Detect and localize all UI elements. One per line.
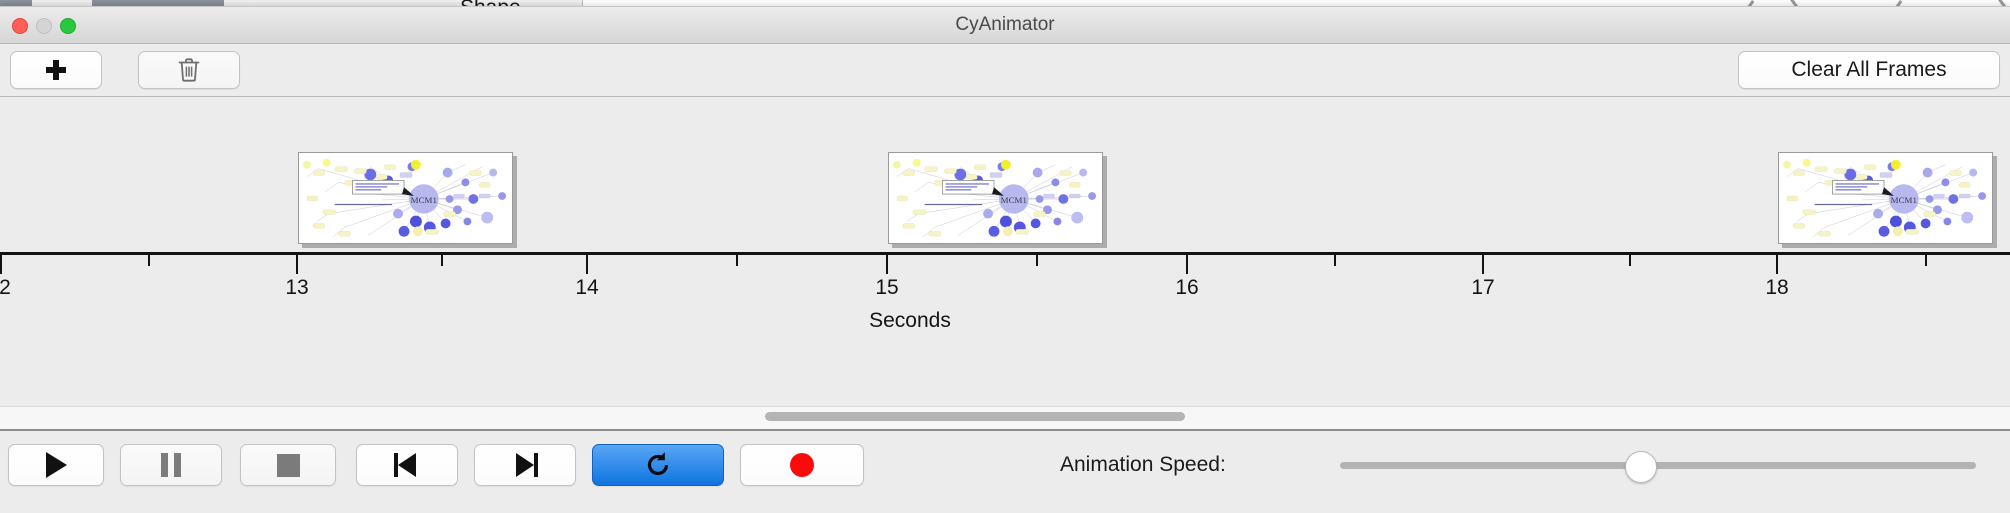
axis-tick-minor	[1925, 255, 1927, 266]
frame-thumbnail[interactable]: MCM1	[888, 152, 1103, 244]
timeline-panel[interactable]: MCM1	[0, 97, 2010, 406]
axis-tick-label: 16	[1175, 276, 1198, 300]
axis-tick-label: 15	[875, 276, 898, 300]
window-controls	[12, 18, 76, 34]
minimize-window-button[interactable]	[36, 18, 52, 34]
animation-speed-label: Animation Speed:	[1060, 444, 1226, 486]
play-icon	[46, 452, 67, 478]
svg-text:MCM1: MCM1	[1001, 195, 1027, 205]
skip-to-end-icon	[512, 453, 538, 477]
network-thumbnail-image: MCM1	[889, 153, 1102, 243]
playback-toolbar: Animation Speed:	[0, 431, 2010, 513]
axis-tick-minor	[441, 255, 443, 266]
frame-toolbar: Clear All Frames	[0, 44, 2010, 97]
axis-tick-label: 13	[285, 276, 308, 300]
loop-icon	[643, 450, 673, 480]
axis-tick-minor	[1629, 255, 1631, 266]
axis-tick-label: 14	[575, 276, 598, 300]
timeline-axis	[0, 252, 2010, 255]
axis-tick-major	[1186, 255, 1188, 274]
axis-tick-major	[1776, 255, 1778, 274]
axis-tick-major	[0, 255, 2, 274]
skip-to-end-button[interactable]	[474, 444, 576, 486]
cyanimator-window: CyAnimator Clear All Frames	[0, 6, 2010, 511]
clear-all-frames-label: Clear All Frames	[1791, 58, 1946, 82]
play-button[interactable]	[8, 444, 104, 486]
pause-button[interactable]	[120, 444, 222, 486]
animation-speed-slider-thumb[interactable]	[1625, 451, 1657, 483]
axis-tick-minor	[1334, 255, 1336, 266]
add-frame-button[interactable]	[10, 51, 102, 89]
axis-caption: Seconds	[0, 309, 1820, 333]
network-thumbnail-image: MCM1	[1779, 153, 1992, 243]
axis-tick-major	[586, 255, 588, 274]
network-thumbnail-image: MCM1	[299, 153, 512, 243]
record-button[interactable]	[740, 444, 864, 486]
loop-button[interactable]	[592, 444, 724, 486]
svg-text:MCM1: MCM1	[1891, 195, 1917, 205]
close-window-button[interactable]	[12, 18, 28, 34]
axis-tick-minor	[1036, 255, 1038, 266]
axis-tick-major	[296, 255, 298, 274]
axis-tick-label: 18	[1765, 276, 1788, 300]
svg-text:MCM1: MCM1	[411, 195, 437, 205]
delete-frame-button[interactable]	[138, 51, 240, 89]
animation-speed-slider-track[interactable]	[1340, 462, 1976, 469]
axis-tick-major	[886, 255, 888, 274]
pause-icon	[161, 453, 181, 477]
record-icon	[790, 453, 814, 477]
maximize-window-button[interactable]	[60, 18, 76, 34]
clear-all-frames-button[interactable]: Clear All Frames	[1738, 51, 2000, 89]
title-bar: CyAnimator	[0, 7, 2010, 44]
axis-tick-minor	[736, 255, 738, 266]
frame-thumbnail[interactable]: MCM1	[298, 152, 513, 244]
skip-to-start-icon	[394, 453, 420, 477]
stop-button[interactable]	[240, 444, 336, 486]
scrollbar-thumb[interactable]	[765, 412, 1185, 421]
window-title: CyAnimator	[0, 7, 2010, 43]
axis-tick-label: 2	[0, 276, 11, 300]
skip-to-start-button[interactable]	[356, 444, 458, 486]
axis-tick-major	[1482, 255, 1484, 274]
axis-tick-label: 17	[1471, 276, 1494, 300]
frame-thumbnail[interactable]: MCM1	[1778, 152, 1993, 244]
plus-icon	[46, 60, 66, 80]
trash-icon	[177, 57, 201, 83]
stop-icon	[277, 454, 300, 477]
axis-tick-minor	[148, 255, 150, 266]
timeline-horizontal-scrollbar[interactable]	[0, 406, 2010, 431]
